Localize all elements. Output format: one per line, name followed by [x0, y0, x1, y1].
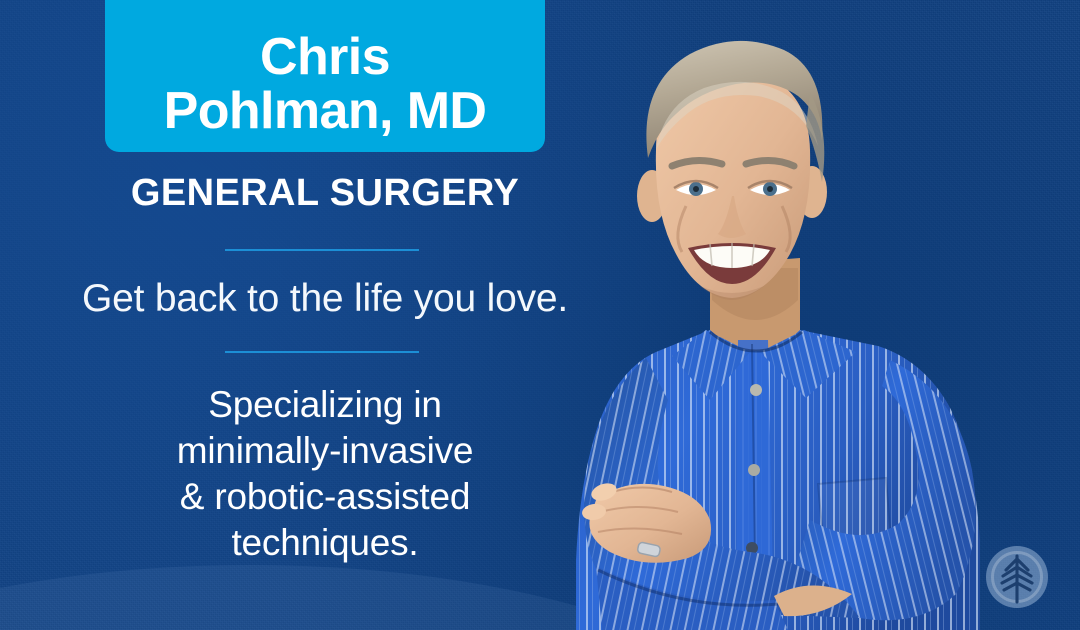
- focus-line-1: Specializing in: [85, 382, 565, 428]
- focus-line-4: techniques.: [85, 520, 565, 566]
- content-column: Chris Pohlman, MD GENERAL SURGERY Get ba…: [0, 0, 640, 630]
- physician-last-name-credential: Pohlman, MD: [164, 84, 487, 138]
- tree-logo-icon: [985, 545, 1049, 609]
- physician-first-name: Chris: [260, 30, 390, 84]
- divider-top: [225, 249, 419, 251]
- physician-name-banner: Chris Pohlman, MD: [105, 0, 545, 152]
- physician-ad-banner: Chris Pohlman, MD GENERAL SURGERY Get ba…: [0, 0, 1080, 630]
- divider-bottom: [225, 351, 419, 353]
- focus-line-2: minimally-invasive: [85, 428, 565, 474]
- specialty-label: GENERAL SURGERY: [105, 172, 545, 215]
- tagline-text: Get back to the life you love.: [20, 277, 630, 321]
- focus-line-3: & robotic-assisted: [85, 474, 565, 520]
- focus-statement: Specializing in minimally-invasive & rob…: [85, 382, 565, 566]
